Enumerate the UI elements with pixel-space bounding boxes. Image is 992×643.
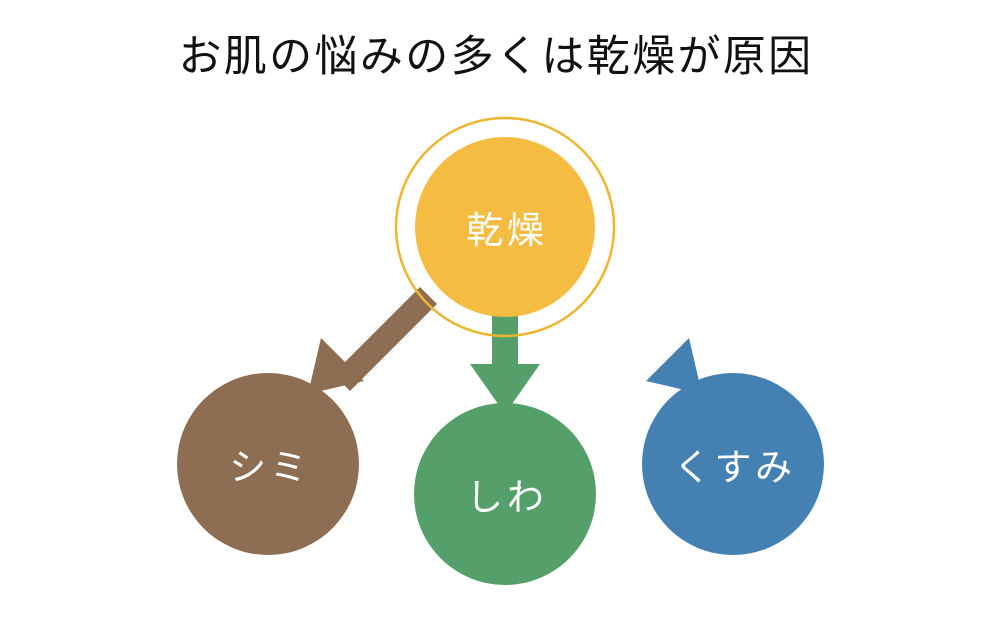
diagram-graphics (0, 0, 992, 643)
diagram-canvas: お肌の悩みの多くは乾燥が原因 乾燥 シミ しわ くすみ (0, 0, 992, 643)
node-circle-shimi[interactable] (177, 373, 359, 555)
arrow-to-shimi (308, 287, 437, 394)
node-circle-kusumi[interactable] (642, 373, 824, 555)
node-circle-shiwa[interactable] (414, 403, 596, 585)
node-circle-center[interactable] (415, 137, 595, 317)
arrow-to-kusumi (573, 287, 702, 394)
